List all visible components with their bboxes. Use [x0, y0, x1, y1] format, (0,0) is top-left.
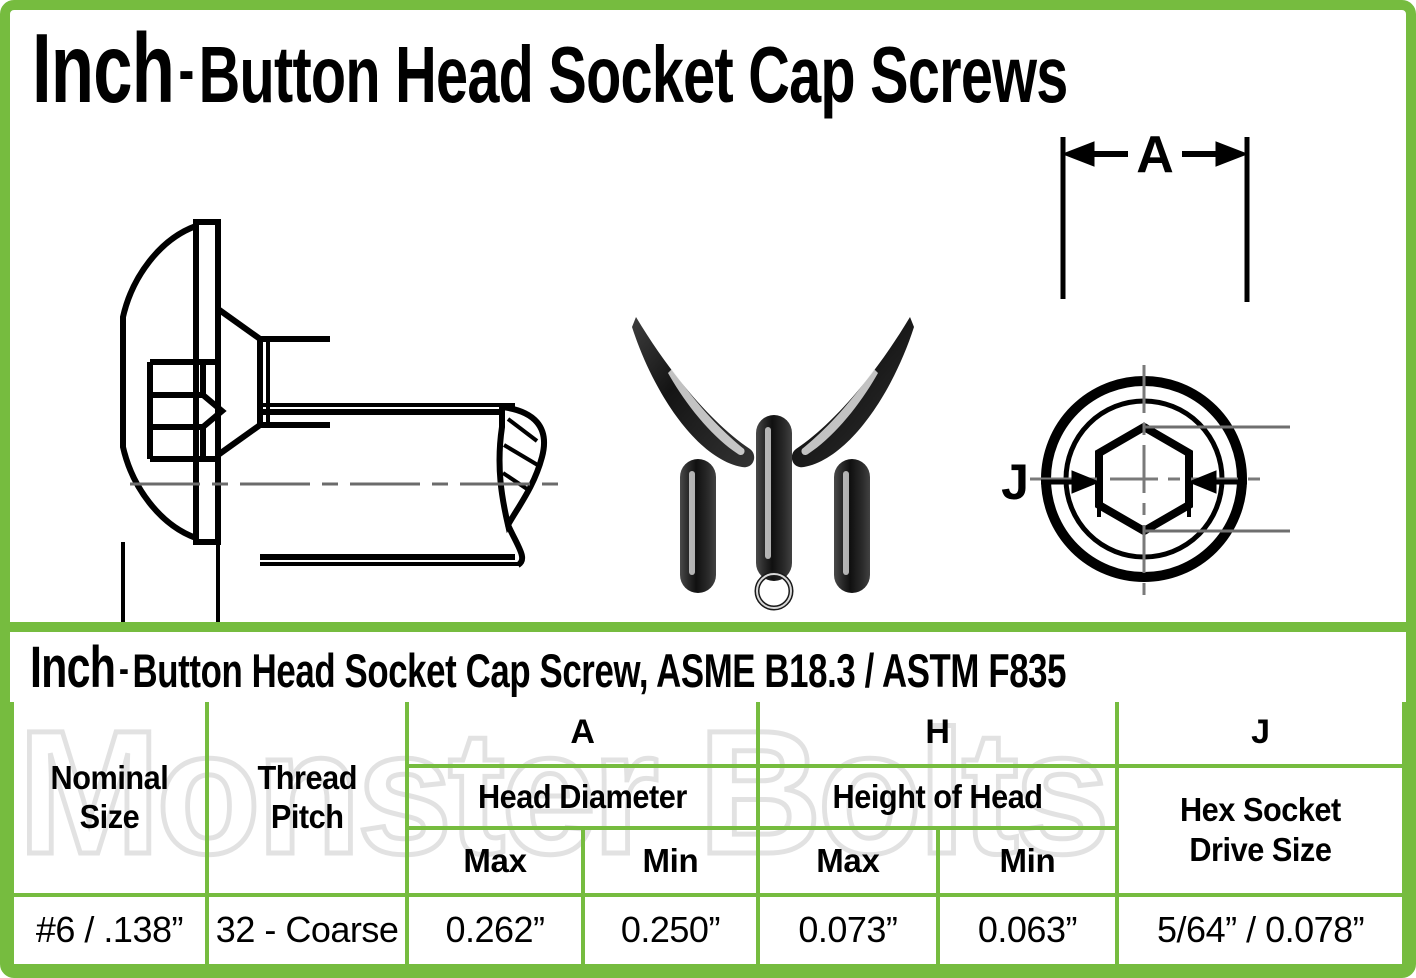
col-header-h-min: Min [938, 828, 1118, 894]
cell-h-min: 0.063” [938, 895, 1118, 966]
specification-table: Nominal Size Thread Pitch A H J Head Dia… [10, 702, 1406, 968]
col-header-head-diameter: Head Diameter [420, 766, 746, 829]
col-header-h-max: Max [758, 828, 938, 894]
nominal-size-line2: Size [24, 797, 194, 837]
col-header-thread-pitch: Thread Pitch [207, 702, 407, 895]
thread-pitch-line1: Thread [219, 758, 394, 798]
title-main: Inch [32, 13, 174, 123]
brand-mark [632, 317, 914, 608]
cell-thread-pitch: 32 - Coarse [207, 895, 407, 966]
table-row: #6 / .138” 32 - Coarse 0.262” 0.250” 0.0… [12, 895, 1404, 966]
col-header-a-max: Max [407, 828, 582, 894]
section-divider [10, 622, 1406, 632]
cell-h-max: 0.073” [758, 895, 938, 966]
col-header-letter-h: H [758, 702, 1117, 766]
title-dash: - [174, 32, 198, 106]
table-caption: Inch-Button Head Socket Cap Screw, ASME … [10, 632, 1406, 702]
col-header-nominal-size: Nominal Size [12, 702, 207, 895]
screw-side-view [123, 222, 520, 564]
table-header-row-letters: Nominal Size Thread Pitch A H J [12, 702, 1404, 766]
col-header-a-min: Min [583, 828, 758, 894]
col-header-height-of-head: Height of Head [771, 766, 1105, 829]
hex-socket-line2: Drive Size [1133, 830, 1389, 870]
shank-break-end [500, 407, 545, 565]
title-rest: Button Head Socket Cap Screws [199, 30, 1068, 119]
col-header-hex-socket: Hex Socket Drive Size [1117, 766, 1404, 895]
nominal-size-line1: Nominal [24, 758, 194, 798]
label-j: J [1001, 454, 1029, 510]
cell-a-max: 0.262” [407, 895, 582, 966]
illustration-area: H Length [10, 127, 1406, 622]
subtitle-rest: Button Head Socket Cap Screw, ASME B18.3… [133, 644, 1067, 697]
page-title: Inch-Button Head Socket Cap Screws [10, 10, 1406, 127]
spec-sheet: Inch-Button Head Socket Cap Screws [0, 0, 1416, 978]
label-a: A [1136, 127, 1174, 184]
col-header-letter-j: J [1117, 702, 1404, 766]
col-header-letter-a: A [407, 702, 758, 766]
thread-pitch-line2: Pitch [219, 797, 394, 837]
subtitle-dash: - [115, 647, 132, 691]
cell-nominal-size: #6 / .138” [12, 895, 207, 966]
subtitle-main: Inch [30, 635, 115, 700]
cell-hex-socket: 5/64” / 0.078” [1117, 895, 1404, 966]
cell-a-min: 0.250” [583, 895, 758, 966]
hex-socket-line1: Hex Socket [1133, 790, 1389, 830]
dimension-h [40, 542, 218, 622]
